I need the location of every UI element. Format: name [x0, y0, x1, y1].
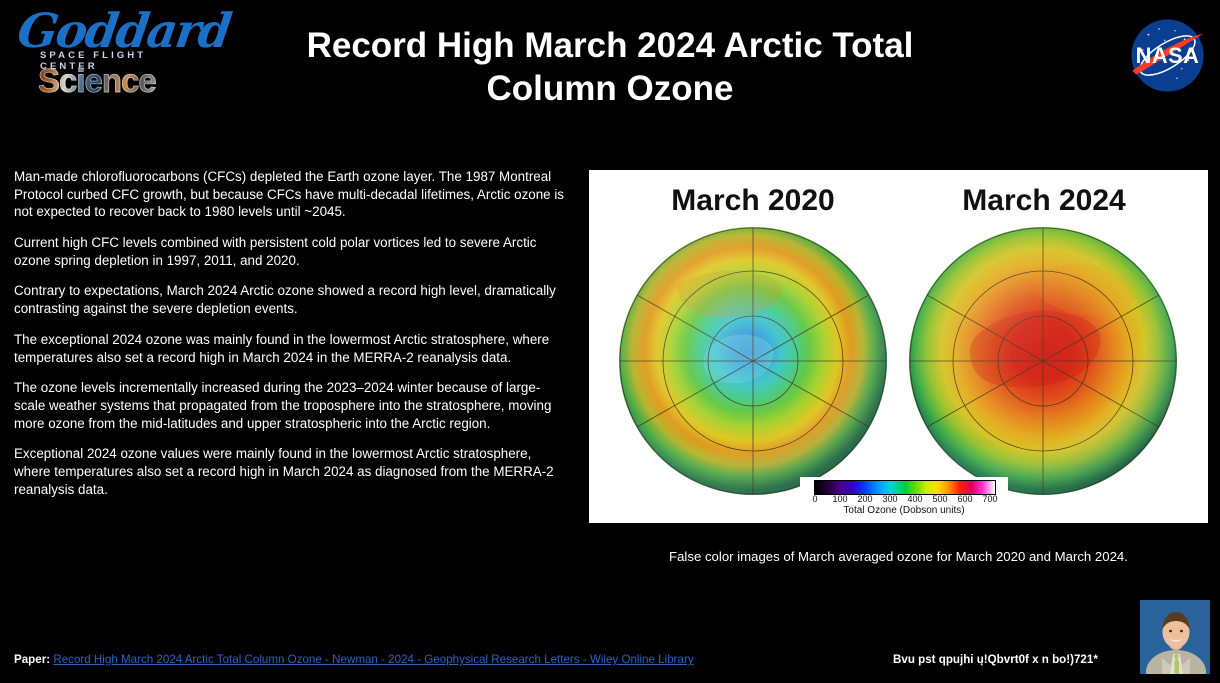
goddard-science-logo: Goddard SPACE FLIGHT CENTER Science [10, 6, 200, 111]
figure-caption: False color images of March averaged ozo… [589, 549, 1208, 564]
colorbar-tick: 200 [857, 494, 872, 504]
bullet-paragraph: The ozone levels incrementally increased… [14, 379, 566, 432]
nasa-logo-icon: NASA [1120, 8, 1215, 103]
bullet-paragraph: Contrary to expectations, March 2024 Arc… [14, 282, 566, 317]
science-wordmark-text: Science [38, 62, 156, 100]
colorbar-tick: 100 [832, 494, 847, 504]
bullet-paragraph: Current high CFC levels combined with pe… [14, 234, 566, 269]
colorbar-tick: 0 [812, 494, 817, 504]
goddard-script-text: Goddard [15, 8, 233, 55]
paper-label: Paper: [14, 653, 50, 666]
bullet-paragraph: Exceptional 2024 ozone values were mainl… [14, 445, 566, 498]
nasa-meatball-logo: NASA [1120, 8, 1215, 103]
colorbar-tick: 700 [982, 494, 997, 504]
colorbar-tick: 400 [907, 494, 922, 504]
colorbar: 0 100 200 300 400 500 600 700 Total Ozon… [800, 477, 1008, 522]
author-photo [1140, 600, 1210, 674]
author-portrait-icon [1140, 600, 1210, 674]
figure-panel: March 2020 March 2024 [589, 170, 1208, 523]
credit-text: Bvu pst qpujhi ų!Qbvrt0f x n bo!)721* [893, 653, 1098, 666]
page-title: Record High March 2024 Arctic Total Colu… [255, 24, 965, 111]
paper-reference: Paper: Record High March 2024 Arctic Tot… [14, 653, 694, 666]
globe-march-2024 [907, 225, 1179, 497]
paper-link[interactable]: Record High March 2024 Arctic Total Colu… [53, 653, 693, 666]
bullet-text-column: Man-made chlorofluorocarbons (CFCs) depl… [14, 168, 566, 511]
globe-title-march-2024: March 2024 [894, 184, 1194, 218]
globe-march-2020 [617, 225, 889, 497]
bullet-paragraph: Man-made chlorofluorocarbons (CFCs) depl… [14, 168, 566, 221]
bullet-paragraph: The exceptional 2024 ozone was mainly fo… [14, 331, 566, 366]
colorbar-axis-label: Total Ozone (Dobson units) [800, 505, 1008, 516]
colorbar-tick: 300 [882, 494, 897, 504]
colorbar-tick: 600 [957, 494, 972, 504]
ozone-map-2020-icon [617, 225, 889, 497]
ozone-map-2024-icon [907, 225, 1179, 497]
colorbar-tick: 500 [932, 494, 947, 504]
colorbar-gradient [814, 480, 996, 495]
slide-header: Goddard SPACE FLIGHT CENTER Science Reco… [0, 0, 1220, 150]
page-title-line-1: Record High March 2024 Arctic Total [255, 24, 965, 67]
page-title-line-2: Column Ozone [255, 67, 965, 110]
globe-title-march-2020: March 2020 [603, 184, 903, 218]
svg-text:NASA: NASA [1136, 43, 1200, 68]
